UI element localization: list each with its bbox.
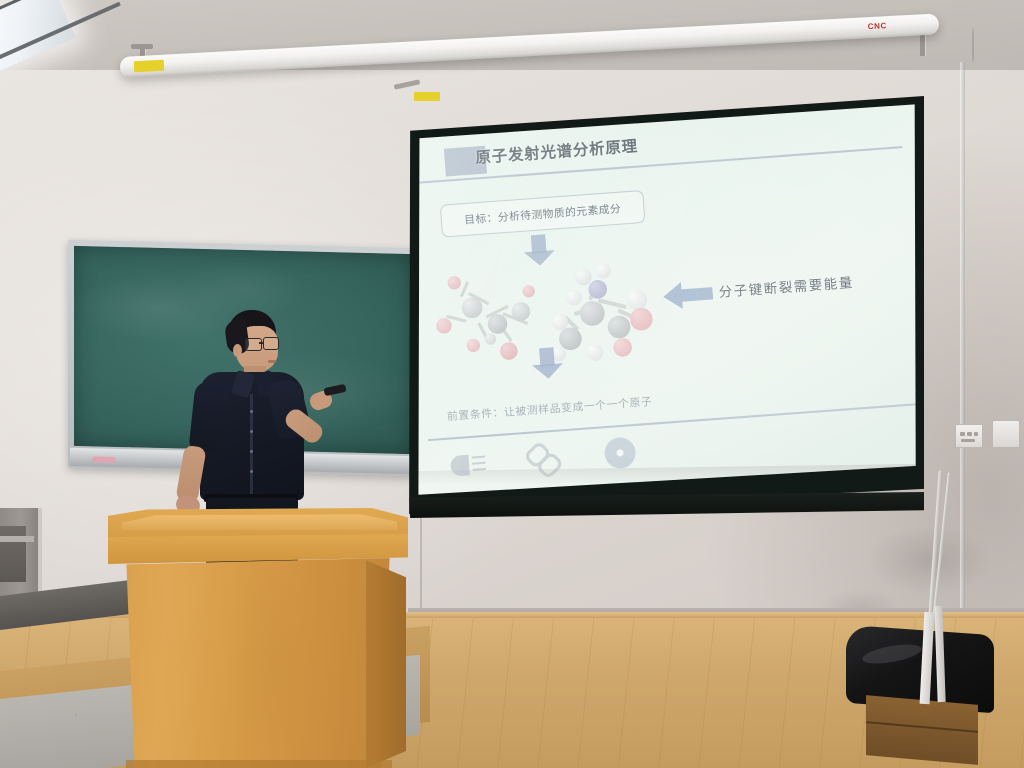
wall-power-outlet[interactable]	[955, 424, 983, 448]
shirt-button	[250, 430, 253, 433]
shirt-sleeve-left	[188, 380, 229, 453]
slide-precondition-text: 前置条件：让被测样品变成一个一个原子	[446, 394, 652, 424]
podium-base	[126, 760, 392, 768]
power-cable	[972, 28, 974, 62]
slide-footer-icons	[449, 433, 678, 485]
glasses-icon-right-lens	[263, 337, 279, 350]
classroom-photo-scene: CNC 原子发射光谱分析原理 目标：分析待测物质的元素成分	[0, 0, 1024, 768]
slide-goal-text: 目标：分析待测物质的元素成分	[464, 200, 622, 227]
projection-screen[interactable]: 原子发射光谱分析原理 目标：分析待测物质的元素成分	[406, 96, 924, 514]
slide-energy-label: 分子键断裂需要能量	[718, 272, 854, 301]
slide-goal-box: 目标：分析待测物质的元素成分	[440, 190, 646, 238]
presentation-slide: 原子发射光谱分析原理 目标：分析待测物质的元素成分	[406, 96, 924, 514]
screen-bracket-hook-left	[131, 44, 153, 49]
podium[interactable]	[108, 508, 408, 768]
podium-side-panel	[366, 556, 406, 768]
warning-sticker-icon	[134, 60, 165, 73]
alcove-shelf	[0, 536, 34, 542]
glasses-icon-left-lens	[245, 338, 262, 351]
screen-surface: 原子发射光谱分析原理 目标：分析待测物质的元素成分	[406, 96, 924, 514]
presenter-ear	[233, 344, 242, 357]
podium-top-surface	[116, 514, 400, 530]
chalk-piece	[92, 456, 116, 463]
podium-front-panel	[118, 558, 398, 768]
podium-marking	[186, 626, 296, 652]
shirt-button	[250, 450, 253, 453]
presenter-mouth	[268, 360, 276, 363]
alcove-interior	[0, 526, 26, 582]
housing-brand-label: CNC	[868, 21, 888, 31]
wall-alcove	[0, 508, 42, 600]
wall-blank-plate	[992, 420, 1020, 448]
shirt-button	[250, 410, 253, 413]
slide-title: 原子发射光谱分析原理	[475, 135, 639, 168]
arrow-left-icon	[662, 280, 713, 310]
glasses-icon-bridge	[259, 342, 264, 344]
shirt-button	[250, 470, 253, 473]
